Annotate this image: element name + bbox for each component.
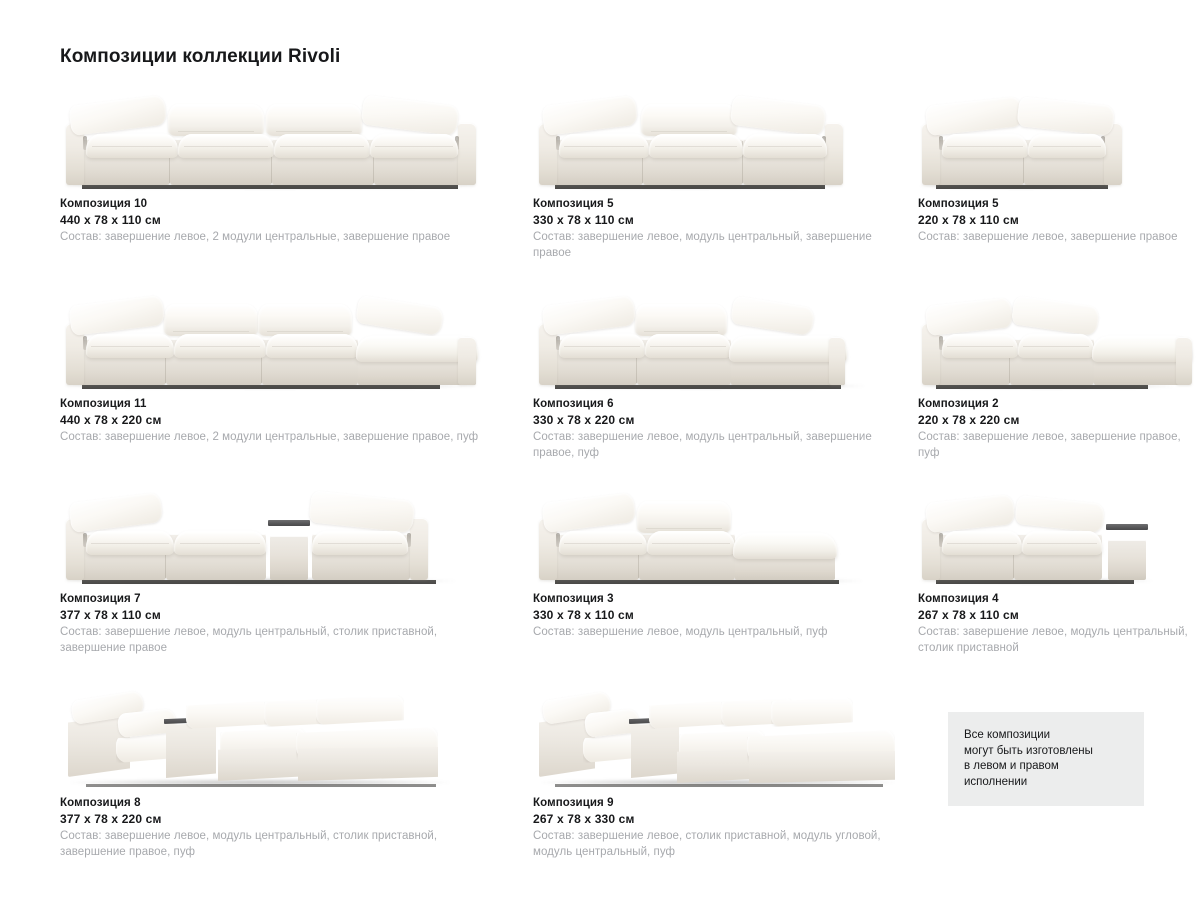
composition-dimensions: 377 x 78 x 220 см bbox=[60, 811, 480, 827]
composition-description: Состав: завершение левое, 2 модули центр… bbox=[60, 229, 480, 245]
composition-name: Композиция 5 bbox=[918, 196, 1200, 212]
sofa-straight-2-module-ottoman-right-image bbox=[533, 487, 905, 585]
info-note-line-4: исполнении bbox=[964, 775, 1144, 791]
composition-description: Состав: завершение левое, 2 модули центр… bbox=[60, 429, 480, 445]
side-table-top bbox=[1106, 524, 1148, 530]
composition-card-comp-6[interactable]: Композиция 6 330 x 78 x 220 см Состав: з… bbox=[533, 290, 905, 461]
composition-card-comp-7[interactable]: Композиция 7 377 x 78 x 110 см Состав: з… bbox=[60, 487, 480, 656]
composition-dimensions: 330 x 78 x 220 см bbox=[533, 412, 905, 428]
info-note: Все композиции могут быть изготовлены в … bbox=[948, 712, 1144, 806]
sofa-straight-with-side-table-center-image bbox=[60, 487, 480, 585]
sofa-straight-4-module-image bbox=[60, 90, 480, 190]
composition-dimensions: 330 x 78 x 110 см bbox=[533, 212, 905, 228]
composition-dimensions: 440 x 78 x 110 см bbox=[60, 212, 480, 228]
composition-name: Композиция 9 bbox=[533, 795, 905, 811]
composition-caption: Композиция 7 377 x 78 x 110 см Состав: з… bbox=[60, 591, 480, 656]
composition-name: Композиция 11 bbox=[60, 396, 480, 412]
composition-dimensions: 440 x 78 x 220 см bbox=[60, 412, 480, 428]
composition-name: Композиция 7 bbox=[60, 591, 480, 607]
composition-description: Состав: завершение левое, модуль централ… bbox=[60, 828, 480, 860]
composition-dimensions: 330 x 78 x 110 см bbox=[533, 607, 905, 623]
composition-card-comp-8[interactable]: Композиция 8 377 x 78 x 220 см Состав: з… bbox=[60, 685, 480, 860]
sofa-angled-with-table-and-ottoman-image bbox=[60, 685, 480, 789]
info-note-line-3: в левом и правом bbox=[964, 759, 1144, 775]
composition-dimensions: 220 x 78 x 220 см bbox=[918, 412, 1200, 428]
composition-description: Состав: завершение левое, столик пристав… bbox=[533, 828, 905, 860]
composition-name: Композиция 6 bbox=[533, 396, 905, 412]
composition-name: Композиция 3 bbox=[533, 591, 905, 607]
composition-caption: Композиция 9 267 x 78 x 330 см Состав: з… bbox=[533, 795, 905, 860]
composition-description: Состав: завершение левое, модуль централ… bbox=[533, 429, 905, 461]
composition-dimensions: 267 x 78 x 110 см bbox=[918, 607, 1200, 623]
composition-card-comp-2[interactable]: Композиция 2 220 x 78 x 220 см Состав: з… bbox=[918, 290, 1200, 461]
composition-dimensions: 220 x 78 x 110 см bbox=[918, 212, 1200, 228]
composition-card-comp-4[interactable]: Композиция 4 267 x 78 x 110 см Состав: з… bbox=[918, 487, 1200, 656]
composition-card-comp-11[interactable]: Композиция 11 440 x 78 x 220 см Состав: … bbox=[60, 290, 480, 445]
composition-dimensions: 267 x 78 x 330 см bbox=[533, 811, 905, 827]
composition-card-comp-10[interactable]: Композиция 10 440 x 78 x 110 см Состав: … bbox=[60, 90, 480, 245]
sofa-angled-corner-with-table-and-ottoman-image bbox=[533, 685, 905, 789]
composition-caption: Композиция 5 330 x 78 x 110 см Состав: з… bbox=[533, 196, 905, 261]
composition-description: Состав: завершение левое, модуль централ… bbox=[60, 624, 480, 656]
sofa-straight-2-module-image bbox=[918, 90, 1200, 190]
info-note-line-2: могут быть изготовлены bbox=[964, 744, 1144, 760]
composition-name: Композиция 5 bbox=[533, 196, 905, 212]
composition-dimensions: 377 x 78 x 110 см bbox=[60, 607, 480, 623]
composition-card-comp-5-330[interactable]: Композиция 5 330 x 78 x 110 см Состав: з… bbox=[533, 90, 905, 261]
composition-caption: Композиция 11 440 x 78 x 220 см Состав: … bbox=[60, 396, 480, 445]
composition-name: Композиция 2 bbox=[918, 396, 1200, 412]
composition-name: Композиция 10 bbox=[60, 196, 480, 212]
composition-caption: Композиция 2 220 x 78 x 220 см Состав: з… bbox=[918, 396, 1200, 461]
sofa-straight-4-module-with-ottoman-image bbox=[60, 290, 480, 390]
composition-caption: Композиция 3 330 x 78 x 110 см Состав: з… bbox=[533, 591, 905, 640]
composition-description: Состав: завершение левое, модуль централ… bbox=[533, 624, 905, 640]
composition-description: Состав: завершение левое, модуль централ… bbox=[533, 229, 905, 261]
composition-caption: Композиция 4 267 x 78 x 110 см Состав: з… bbox=[918, 591, 1200, 656]
side-table-top bbox=[268, 520, 310, 526]
composition-description: Состав: завершение левое, модуль централ… bbox=[918, 624, 1200, 656]
composition-card-comp-3[interactable]: Композиция 3 330 x 78 x 110 см Состав: з… bbox=[533, 487, 905, 640]
composition-caption: Композиция 5 220 x 78 x 110 см Состав: з… bbox=[918, 196, 1200, 245]
catalog-page: Композиции коллекции Rivoli bbox=[0, 0, 1200, 900]
composition-card-comp-9[interactable]: Композиция 9 267 x 78 x 330 см Состав: з… bbox=[533, 685, 905, 860]
composition-name: Композиция 8 bbox=[60, 795, 480, 811]
sofa-straight-2-module-side-table-right-image bbox=[918, 487, 1200, 585]
info-note-line-1: Все композиции bbox=[964, 728, 1144, 744]
composition-card-comp-5-220[interactable]: Композиция 5 220 x 78 x 110 см Состав: з… bbox=[918, 90, 1200, 245]
sofa-straight-2-module-with-ottoman-image bbox=[918, 290, 1200, 390]
page-title: Композиции коллекции Rivoli bbox=[60, 46, 340, 68]
side-table bbox=[270, 536, 308, 580]
side-table bbox=[1108, 540, 1146, 580]
composition-caption: Композиция 10 440 x 78 x 110 см Состав: … bbox=[60, 196, 480, 245]
composition-name: Композиция 4 bbox=[918, 591, 1200, 607]
sofa-straight-3-module-image bbox=[533, 90, 905, 190]
composition-description: Состав: завершение левое, завершение пра… bbox=[918, 229, 1200, 245]
sofa-straight-3-module-with-ottoman-image bbox=[533, 290, 905, 390]
composition-caption: Композиция 8 377 x 78 x 220 см Состав: з… bbox=[60, 795, 480, 860]
composition-caption: Композиция 6 330 x 78 x 220 см Состав: з… bbox=[533, 396, 905, 461]
composition-description: Состав: завершение левое, завершение пра… bbox=[918, 429, 1200, 461]
